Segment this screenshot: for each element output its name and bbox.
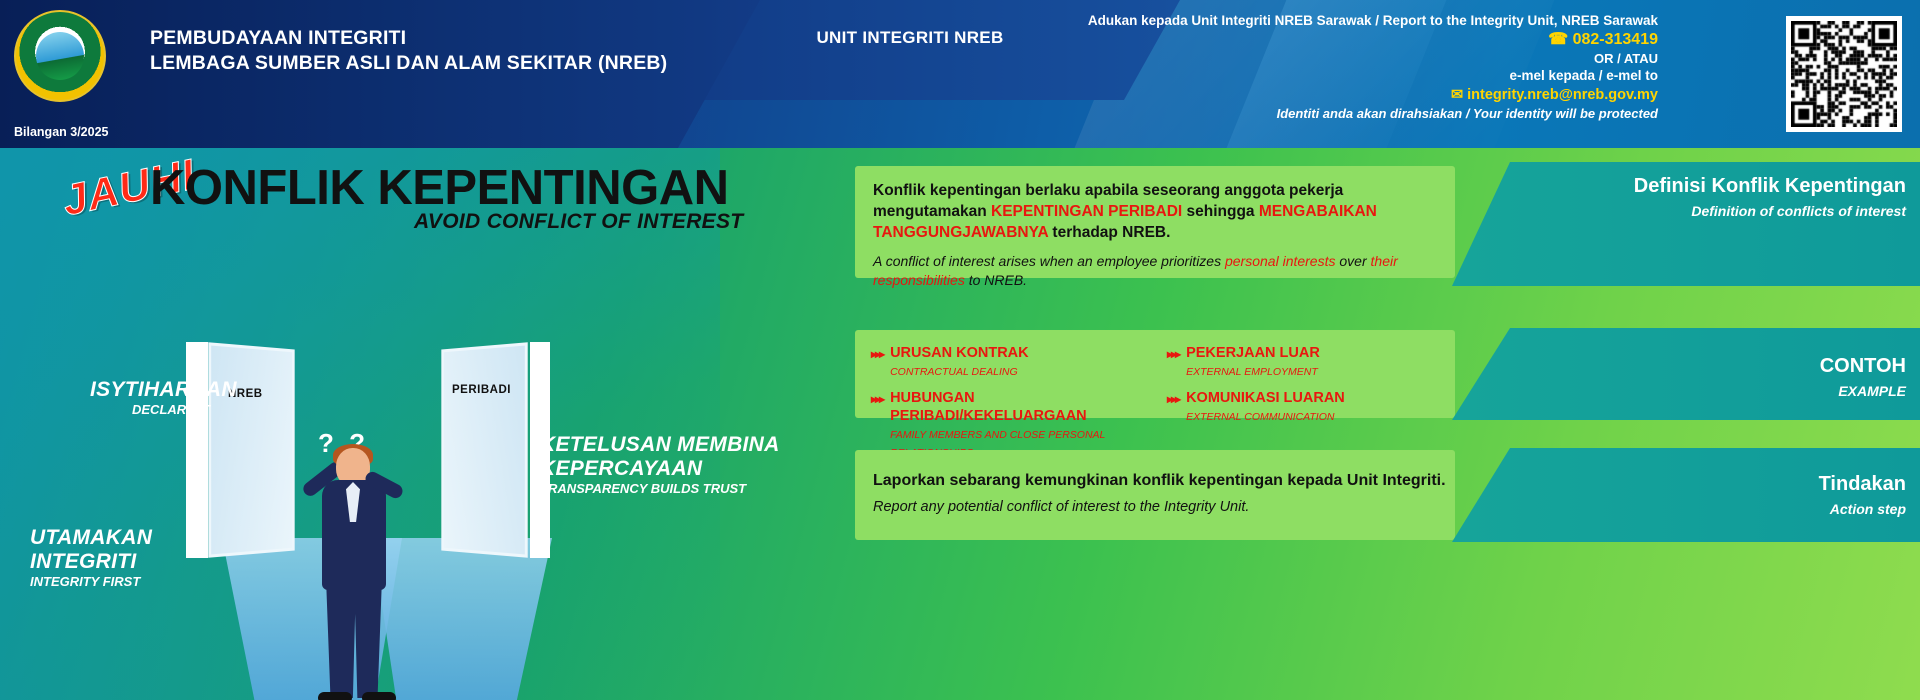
identity-protection-note: Identiti anda akan dirahsiakan / Your id… [1018, 105, 1658, 123]
organisation-line-1: PEMBUDAYAAN INTEGRITI [150, 26, 667, 51]
action-en: Report any potential conflict of interes… [873, 499, 1249, 515]
tab-definition-en: Definition of conflicts of interest [1522, 202, 1906, 220]
poster-subtitle: AVOID CONFLICT OF INTEREST [414, 210, 743, 234]
figure-shoe-left [318, 692, 352, 700]
caption-transparency-ms: KETELUSAN MEMBINA KEPERCAYAAN [540, 433, 780, 481]
organisation-line-2: LEMBAGA SUMBER ASLI DAN ALAM SEKITAR (NR… [150, 51, 667, 76]
tab-action-en: Action step [1522, 500, 1906, 518]
nreb-logo-inner [36, 32, 84, 80]
contact-phone[interactable]: ☎ 082-313419 [1018, 30, 1658, 50]
example-en: EXTERNAL COMMUNICATION [1186, 411, 1334, 423]
example-en: EXTERNAL EMPLOYMENT [1186, 366, 1318, 378]
tab-definition-inner: Definisi Konflik Kepentingan Definition … [1452, 162, 1920, 230]
example-ms: PEKERJAAN LUAR [1186, 345, 1320, 361]
definition-en-part2: over [1336, 253, 1371, 269]
tab-examples-inner: CONTOH EXAMPLE [1452, 328, 1920, 410]
figure-shoe-right [362, 692, 396, 700]
list-item: ▸▸▸ URUSAN KONTRAK CONTRACTUAL DEALING [871, 344, 1149, 380]
triple-arrow-icon: ▸▸▸ [871, 347, 883, 361]
page-header: PEMBUDAYAAN INTEGRITI LEMBAGA SUMBER ASL… [0, 0, 1920, 148]
tab-action-inner: Tindakan Action step [1452, 448, 1920, 528]
definition-ms-part3: terhadap NREB. [1048, 224, 1170, 241]
tab-definition: Definisi Konflik Kepentingan Definition … [1452, 162, 1920, 286]
poster-title: KONFLIK KEPENTINGAN [150, 160, 729, 216]
organisation-title: PEMBUDAYAAN INTEGRITI LEMBAGA SUMBER ASL… [150, 26, 667, 76]
or-separator: OR / ATAU [1018, 50, 1658, 67]
tab-action-ms: Tindakan [1522, 472, 1906, 497]
definition-ms: Konflik kepentingan berlaku apabila sese… [873, 180, 1441, 243]
qr-code-canvas [1791, 21, 1897, 127]
report-line: Adukan kepada Unit Integriti NREB Sarawa… [1018, 12, 1658, 30]
triple-arrow-icon: ▸▸▸ [1167, 347, 1179, 361]
example-text: URUSAN KONTRAK CONTRACTUAL DEALING [890, 344, 1029, 380]
email-label: e-mel kepada / e-mel to [1018, 67, 1658, 85]
definition-en: A conflict of interest arises when an em… [873, 252, 1441, 290]
tab-definition-ms: Definisi Konflik Kepentingan [1522, 174, 1906, 199]
poster-body: JAUHI KONFLIK KEPENTINGAN AVOID CONFLICT… [0, 148, 1920, 700]
contact-email[interactable]: ✉ integrity.nreb@nreb.gov.my [1018, 85, 1658, 105]
definition-en-part3: to NREB. [965, 272, 1027, 288]
caption-integrity: UTAMAKAN INTEGRITI INTEGRITY FIRST [30, 526, 250, 589]
example-ms: URUSAN KONTRAK [890, 345, 1029, 361]
list-item: ▸▸▸ PEKERJAAN LUAR EXTERNAL EMPLOYMENT [1167, 344, 1445, 380]
envelope-icon: ✉ [1451, 87, 1463, 103]
example-en: CONTRACTUAL DEALING [890, 366, 1018, 378]
nreb-logo-icon [14, 10, 106, 102]
caption-declare-ms: ISYTIHARKAN [90, 378, 210, 402]
caption-integrity-en: INTEGRITY FIRST [30, 574, 250, 589]
phone-number: 082-313419 [1573, 31, 1658, 48]
light-beam-right [360, 538, 560, 700]
panel-examples: ▸▸▸ URUSAN KONTRAK CONTRACTUAL DEALING ▸… [855, 330, 1455, 418]
triple-arrow-icon: ▸▸▸ [1167, 392, 1179, 406]
illustration: NREB PERIBADI ? ? ISYTIHARKAN DECLARE IT… [0, 248, 840, 700]
tab-examples: CONTOH EXAMPLE [1452, 328, 1920, 420]
door-label-peribadi: PERIBADI [452, 384, 511, 396]
phone-icon: ☎ [1548, 31, 1568, 48]
example-text: PEKERJAAN LUAR EXTERNAL EMPLOYMENT [1186, 344, 1320, 380]
caption-declare-en: DECLARE IT [90, 402, 210, 417]
definition-ms-part2: sehingga [1182, 203, 1259, 220]
triple-arrow-icon: ▸▸▸ [871, 392, 883, 406]
caption-transparency-en: TRANSPARENCY BUILDS TRUST [540, 481, 780, 496]
panel-definition: Konflik kepentingan berlaku apabila sese… [855, 166, 1455, 278]
panel-definition-text: Konflik kepentingan berlaku apabila sese… [873, 180, 1441, 290]
caption-transparency: KETELUSAN MEMBINA KEPERCAYAAN TRANSPAREN… [540, 433, 780, 496]
definition-en-part1: A conflict of interest arises when an em… [873, 253, 1225, 269]
caption-declare: ISYTIHARKAN DECLARE IT [90, 378, 210, 417]
door-peribadi [441, 342, 527, 558]
example-ms: KOMUNIKASI LUARAN [1186, 390, 1345, 406]
tab-examples-en: EXAMPLE [1522, 382, 1906, 400]
action-ms: Laporkan sebarang kemungkinan konflik ke… [873, 472, 1446, 490]
definition-en-highlight-1: personal interests [1225, 253, 1336, 269]
example-text: KOMUNIKASI LUARAN EXTERNAL COMMUNICATION [1186, 389, 1345, 425]
panel-action: Laporkan sebarang kemungkinan konflik ke… [855, 450, 1455, 540]
list-item: ▸▸▸ KOMUNIKASI LUARAN EXTERNAL COMMUNICA… [1167, 389, 1445, 425]
qr-code-icon[interactable] [1786, 16, 1902, 132]
tab-action: Tindakan Action step [1452, 448, 1920, 542]
contact-block: Adukan kepada Unit Integriti NREB Sarawa… [1018, 12, 1658, 123]
tab-examples-ms: CONTOH [1522, 354, 1906, 379]
email-address: integrity.nreb@nreb.gov.my [1467, 87, 1658, 103]
caption-integrity-ms: UTAMAKAN INTEGRITI [30, 526, 250, 574]
definition-ms-highlight-1: KEPENTINGAN PERIBADI [991, 203, 1182, 220]
issue-number: Bilangan 3/2025 [14, 125, 109, 139]
example-ms: HUBUNGAN PERIBADI/KEKELUARGAAN [890, 390, 1087, 424]
